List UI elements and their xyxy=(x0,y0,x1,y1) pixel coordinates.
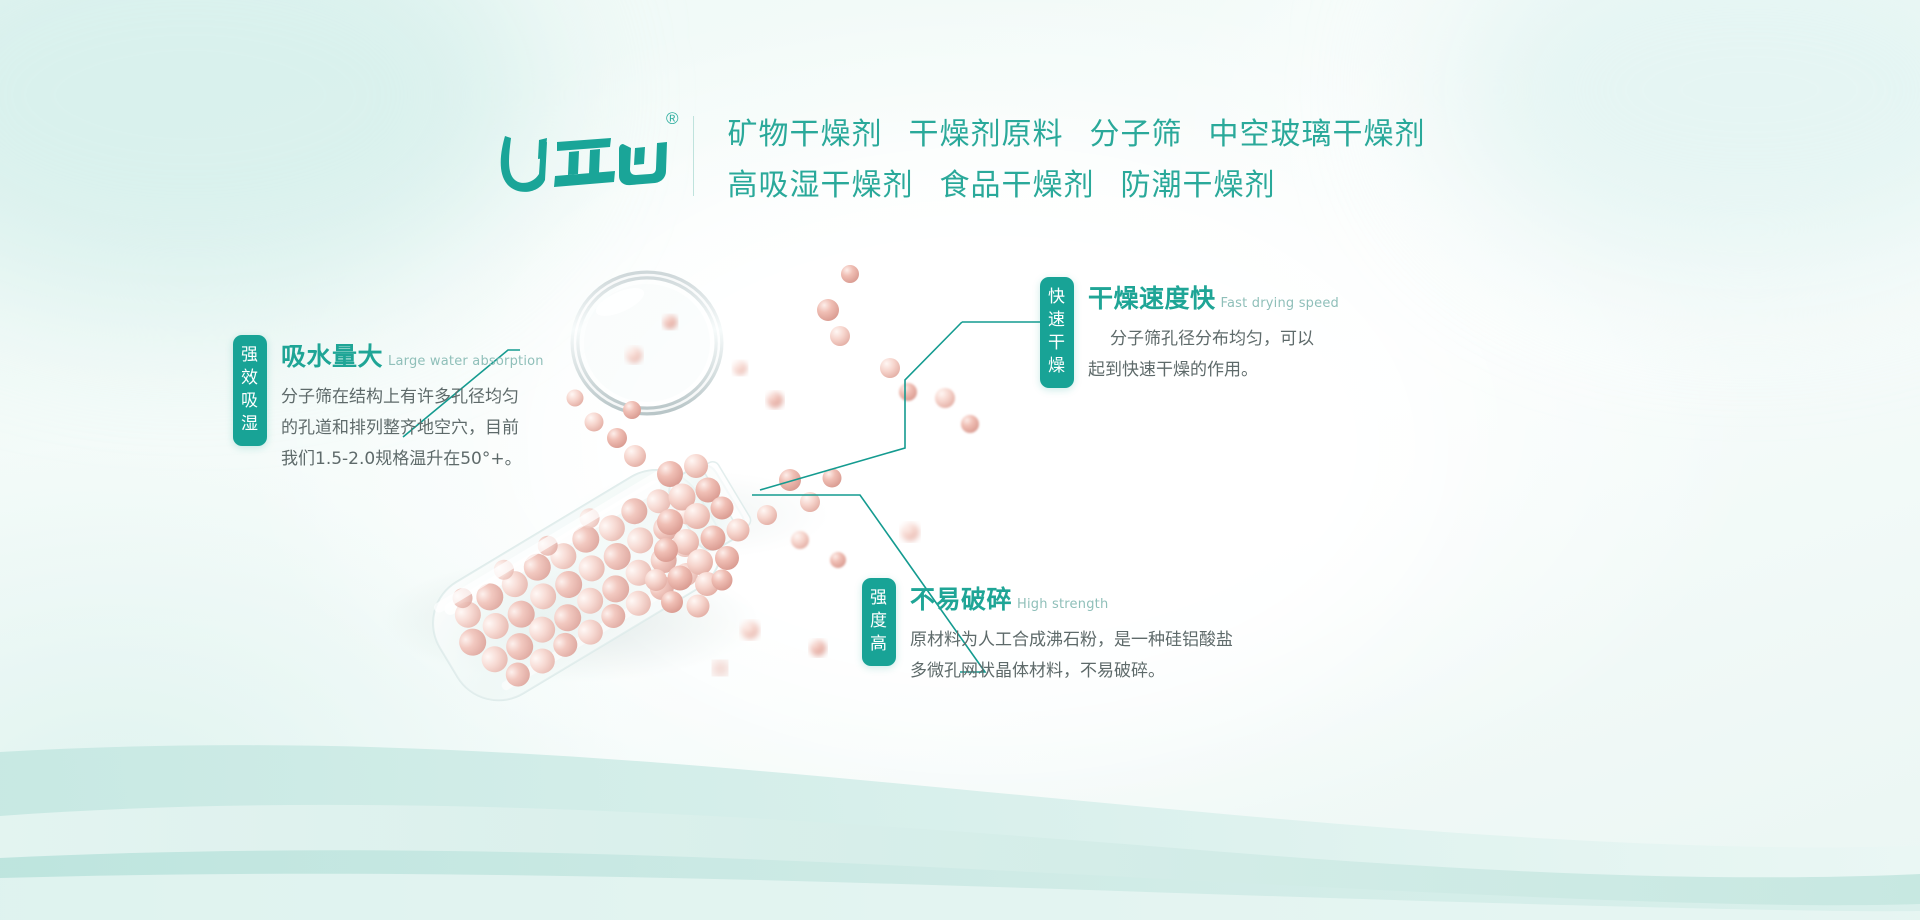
callout-title-en: Large water absorption xyxy=(388,354,544,369)
tag-char: 湿 xyxy=(233,413,267,436)
keyword-item[interactable]: 食品干燥剂 xyxy=(940,168,1095,203)
callout-title-en: Fast drying speed xyxy=(1221,296,1339,311)
tag-char: 强 xyxy=(233,344,267,367)
banner-stage: ® 矿物干燥剂干燥剂原料分子筛中空玻璃干燥剂 高吸湿干燥剂食品干燥剂防潮干燥剂 … xyxy=(0,0,1920,920)
header-divider xyxy=(693,116,694,196)
header-keywords-line2: 高吸湿干燥剂食品干燥剂防潮干燥剂 xyxy=(728,160,1426,204)
callout-high-strength: 强 度 高 不易破碎 High strength 原材料为人工合成沸石粉，是一种… xyxy=(862,578,1233,687)
tag-char: 度 xyxy=(862,610,896,633)
callout-text-block: 吸水量大 Large water absorption 分子筛在结构上有许多孔径… xyxy=(281,335,544,475)
callout-title-en: High strength xyxy=(1017,597,1108,612)
keyword-item[interactable]: 高吸湿干燥剂 xyxy=(728,168,914,203)
site-header: ® 矿物干燥剂干燥剂原料分子筛中空玻璃干燥剂 高吸湿干燥剂食品干燥剂防潮干燥剂 xyxy=(0,108,1920,204)
callout-body: 原材料为人工合成沸石粉，是一种硅铝酸盐 多微孔网状晶体材料，不易破碎。 xyxy=(910,625,1233,687)
brand-logo[interactable]: ® xyxy=(495,108,685,204)
callout-fast-drying-speed: 快 速 干 燥 干燥速度快 Fast drying speed 分子筛孔径分布均… xyxy=(1040,277,1339,388)
tag-char: 燥 xyxy=(1040,355,1074,378)
callout-title: 不易破碎 High strength xyxy=(910,580,1233,616)
tag-char: 吸 xyxy=(233,390,267,413)
tag-char: 干 xyxy=(1040,332,1074,355)
callout-tag-badge: 快 速 干 燥 xyxy=(1040,277,1074,388)
keyword-item[interactable]: 中空玻璃干燥剂 xyxy=(1209,117,1426,152)
tag-char: 强 xyxy=(862,587,896,610)
callout-large-water-absorption: 强 效 吸 湿 吸水量大 Large water absorption 分子筛在… xyxy=(233,335,544,475)
keyword-item[interactable]: 矿物干燥剂 xyxy=(728,117,883,152)
header-keywords-line1: 矿物干燥剂干燥剂原料分子筛中空玻璃干燥剂 xyxy=(728,109,1426,153)
callout-title: 吸水量大 Large water absorption xyxy=(281,337,544,373)
tag-char: 快 xyxy=(1040,286,1074,309)
callout-title-zh: 干燥速度快 xyxy=(1088,279,1216,315)
callout-tag-badge: 强 效 吸 湿 xyxy=(233,335,267,446)
yayu-wordmark-logo xyxy=(495,114,685,204)
callout-body: 分子筛孔径分布均匀，可以 起到快速干燥的作用。 xyxy=(1088,324,1339,386)
callout-title: 干燥速度快 Fast drying speed xyxy=(1088,279,1339,315)
callout-tag-badge: 强 度 高 xyxy=(862,578,896,666)
callout-text-block: 不易破碎 High strength 原材料为人工合成沸石粉，是一种硅铝酸盐 多… xyxy=(910,578,1233,687)
callout-text-block: 干燥速度快 Fast drying speed 分子筛孔径分布均匀，可以 起到快… xyxy=(1088,277,1339,386)
keyword-item[interactable]: 防潮干燥剂 xyxy=(1121,168,1276,203)
callout-title-zh: 不易破碎 xyxy=(910,580,1012,616)
tag-char: 速 xyxy=(1040,309,1074,332)
callout-title-zh: 吸水量大 xyxy=(281,337,383,373)
tag-char: 效 xyxy=(233,367,267,390)
callout-body: 分子筛在结构上有许多孔径均匀 的孔道和排列整齐地空穴，目前 我们1.5-2.0规… xyxy=(281,382,544,475)
tag-char: 高 xyxy=(862,633,896,656)
header-keywords: 矿物干燥剂干燥剂原料分子筛中空玻璃干燥剂 高吸湿干燥剂食品干燥剂防潮干燥剂 xyxy=(728,109,1426,204)
registered-mark-icon: ® xyxy=(666,110,679,127)
keyword-item[interactable]: 分子筛 xyxy=(1090,117,1183,152)
keyword-item[interactable]: 干燥剂原料 xyxy=(909,117,1064,152)
bottle-lid-ring xyxy=(575,275,719,411)
